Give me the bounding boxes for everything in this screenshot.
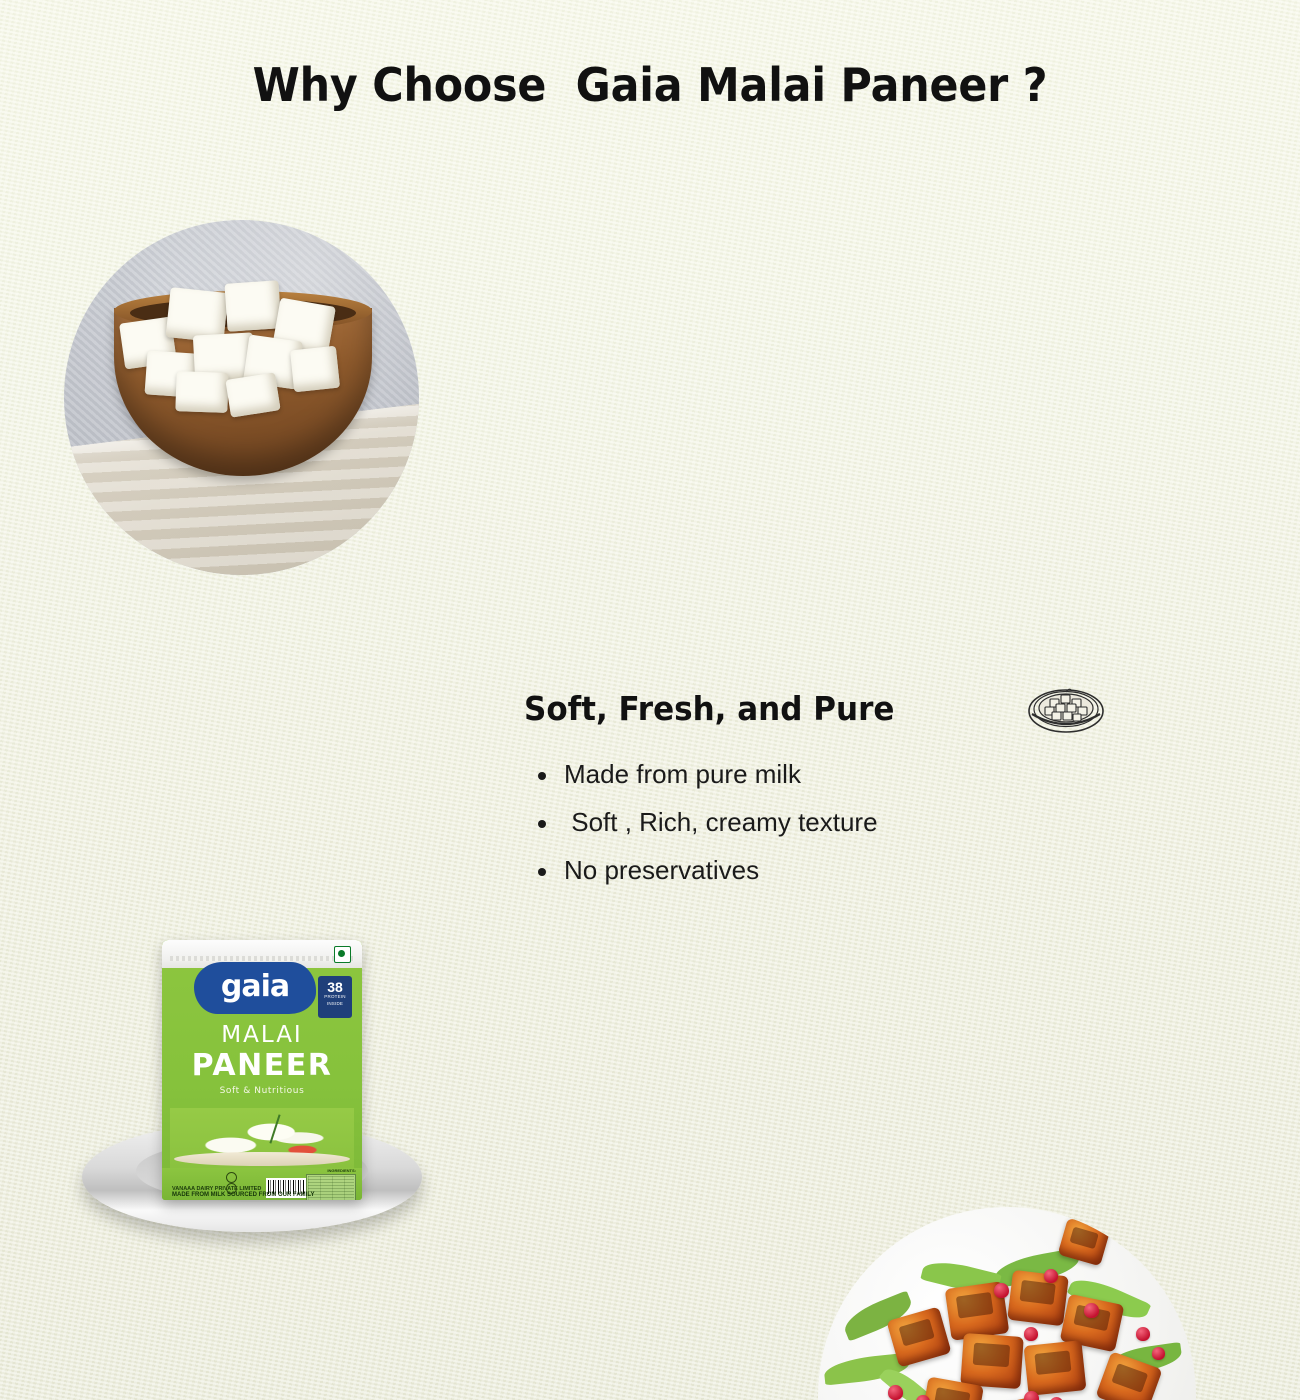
pack-footer-text: MADE FROM MILK SOURCED FROM OUR FAMILY F… — [172, 1192, 322, 1200]
page-title: Why Choose Gaia Malai Paneer ? — [46, 58, 1255, 112]
pack-front-food-photo — [170, 1108, 354, 1168]
section-bullets-soft-fresh-pure: Made from pure milk Soft , Rich, creamy … — [524, 761, 1300, 883]
paneer-cubes-in-wooden-bowl-photo — [64, 220, 419, 575]
protein-badge-label: PROTEIN INSIDE — [318, 994, 352, 1007]
gaia-logo: gaia — [194, 962, 316, 1014]
section-soft-fresh-pure: Soft, Fresh, and Pure — [524, 681, 1300, 883]
paneer-plate-sketch-icon — [934, 681, 1106, 735]
gaia-malai-paneer-pack-photo: gaia 38 PROTEIN INSIDE MALAI PANEER Soft… — [40, 940, 430, 1280]
paneer-cubes-group — [116, 276, 368, 416]
section-heading-soft-fresh-pure: Soft, Fresh, and Pure — [524, 681, 1300, 735]
product-pouch: gaia 38 PROTEIN INSIDE MALAI PANEER Soft… — [162, 940, 362, 1200]
infographic-poster: Why Choose Gaia Malai Paneer ? Soft, Fre… — [0, 0, 1300, 1400]
pack-title-line1: MALAI — [162, 1022, 362, 1048]
pack-ingredients-heading: INGREDIENTS: — [327, 1168, 356, 1173]
pack-title-line2: PANEER — [162, 1048, 362, 1083]
green-vegetarian-mark-icon — [334, 946, 351, 963]
gaia-logo-text: gaia — [221, 972, 289, 1002]
paneer-tikka-salad-photo — [818, 1207, 1196, 1400]
protein-badge: 38 PROTEIN INSIDE — [318, 976, 352, 1018]
rosemary-sprig — [269, 1114, 280, 1143]
list-item: Made from pure milk — [524, 761, 1300, 787]
protein-badge-value: 38 — [318, 980, 352, 994]
section-heading-text: Soft, Fresh, and Pure — [524, 689, 894, 728]
list-item: No preservatives — [524, 857, 1300, 883]
food-tray — [174, 1152, 350, 1166]
list-item: Soft , Rich, creamy texture — [524, 809, 1300, 835]
pack-tagline: Soft & Nutritious — [162, 1086, 362, 1096]
